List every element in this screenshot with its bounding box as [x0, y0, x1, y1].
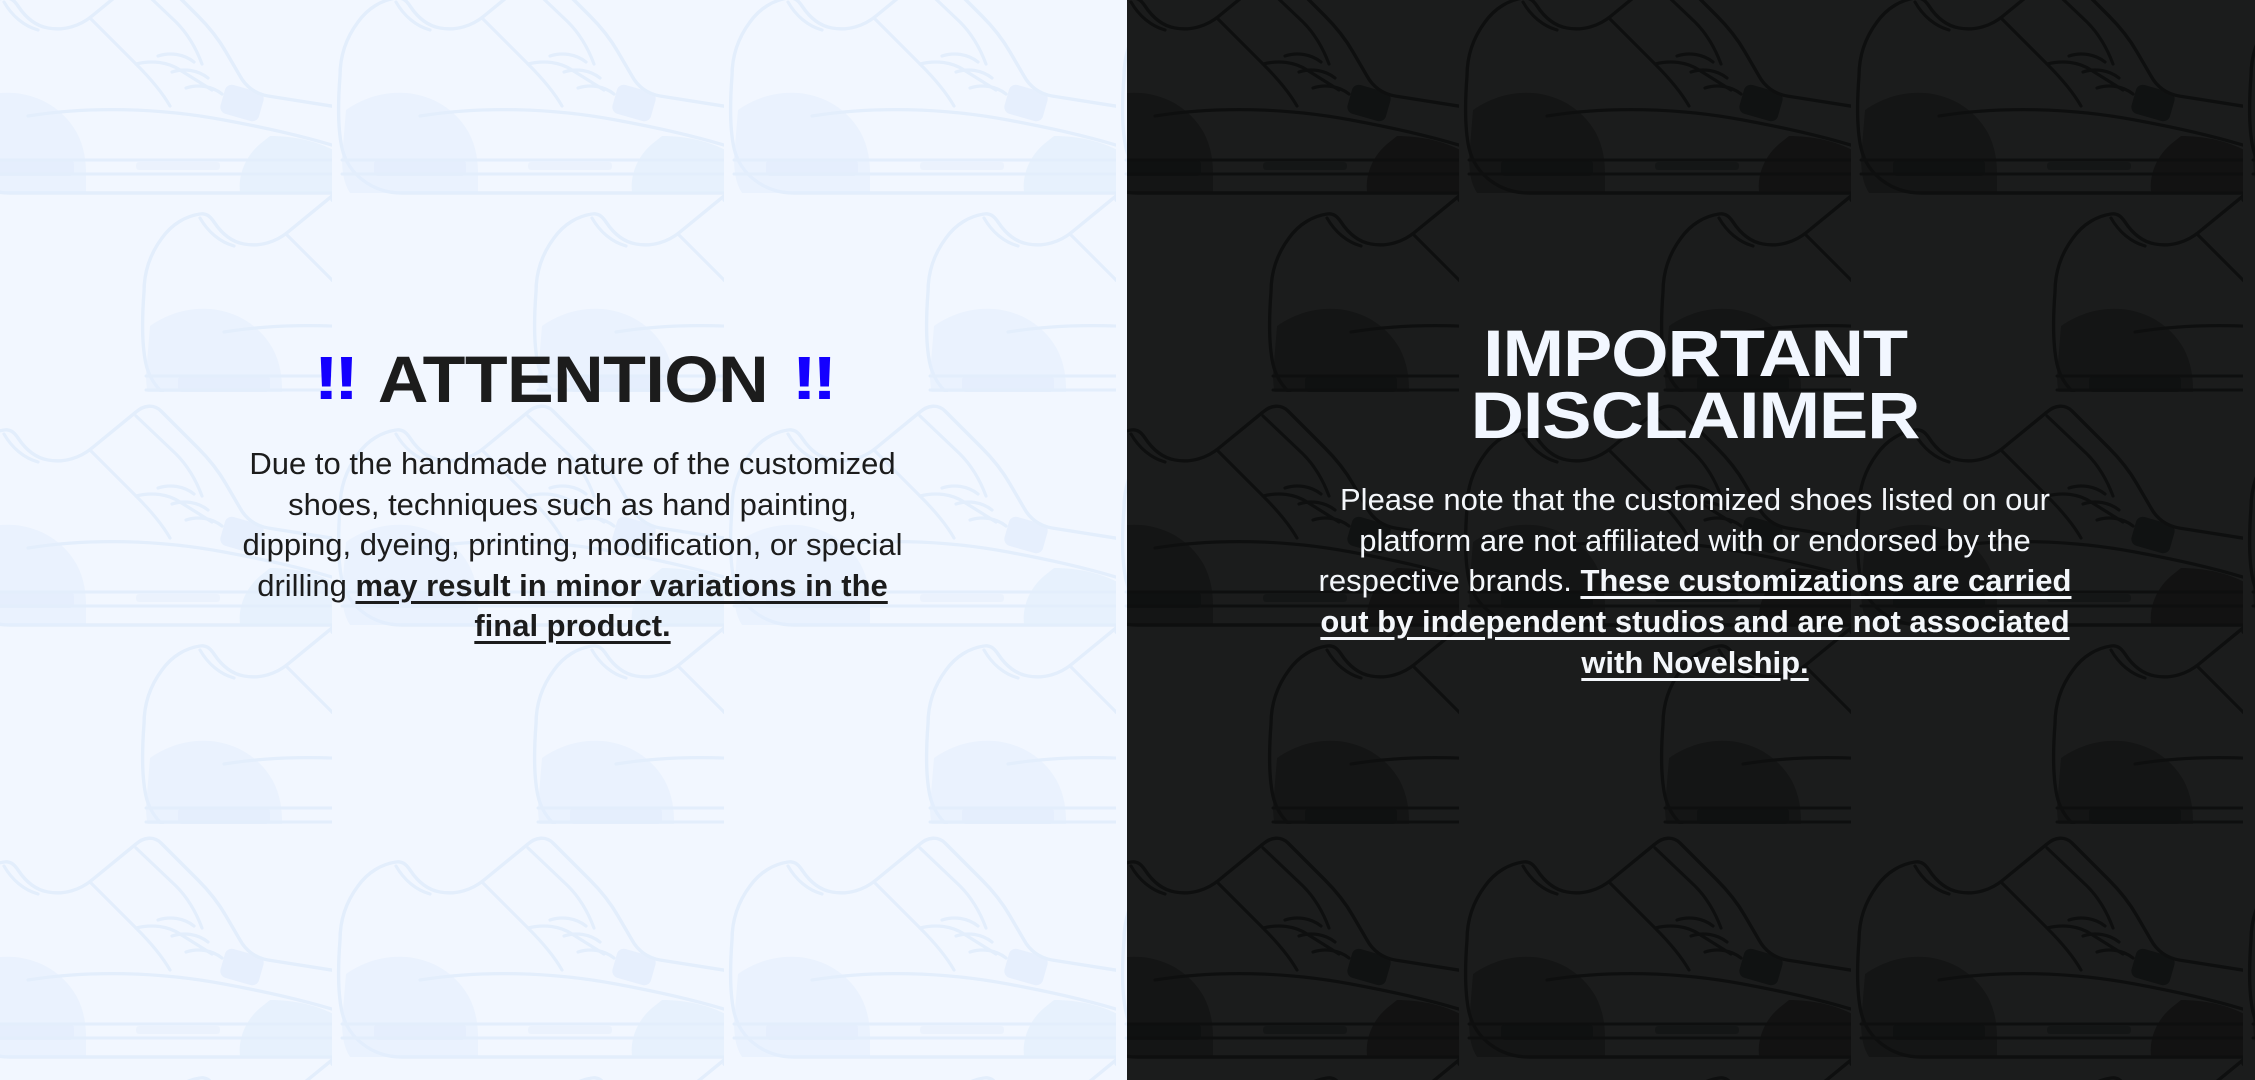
double-exclamation-icon-left: !! [313, 349, 354, 410]
attention-body-emphasis: may result in minor variations in the fi… [355, 568, 887, 644]
attention-body: Due to the handmade nature of the custom… [183, 444, 963, 647]
attention-content: !! ATTENTION !! Due to the handmade natu… [183, 0, 963, 647]
attention-headline-text: ATTENTION [377, 348, 767, 410]
disclaimer-headline-line2: DISCLAIMER [1471, 384, 1920, 446]
attention-panel: !! ATTENTION !! Due to the handmade natu… [0, 0, 1127, 1080]
double-exclamation-icon-right: !! [791, 349, 832, 410]
disclaimer-banner: !! ATTENTION !! Due to the handmade natu… [0, 0, 2255, 1080]
page-title-attention: !! ATTENTION !! [159, 348, 986, 410]
disclaimer-panel: IMPORTANT DISCLAIMER Please note that th… [1127, 0, 2255, 1080]
disclaimer-body: Please note that the customized shoes li… [1285, 480, 2105, 683]
disclaimer-headline-line1: IMPORTANT [1483, 322, 1907, 384]
disclaimer-content: IMPORTANT DISCLAIMER Please note that th… [1285, 0, 2105, 683]
page-title-disclaimer: IMPORTANT DISCLAIMER [1236, 322, 2154, 446]
